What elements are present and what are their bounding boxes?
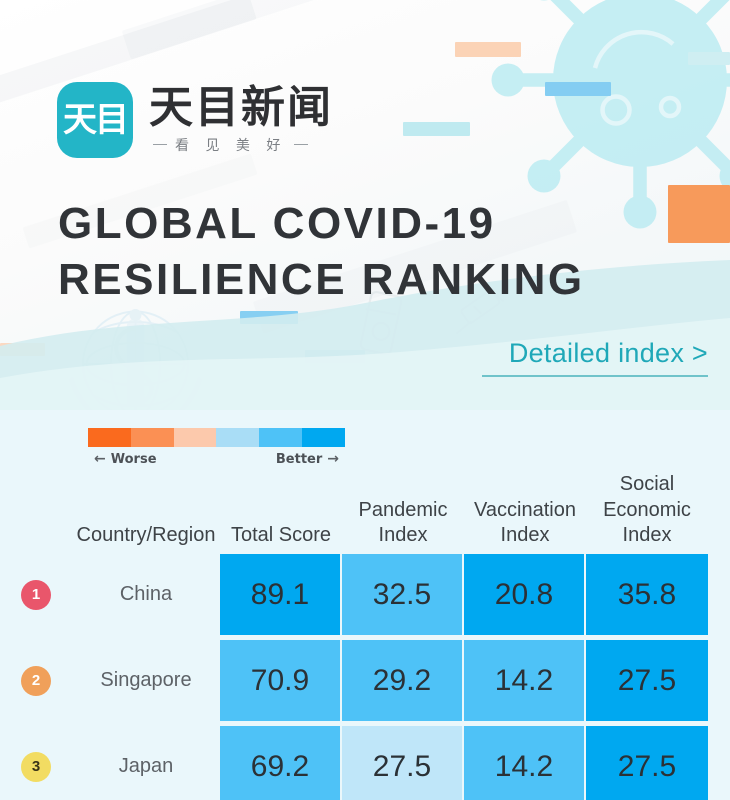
page-title: GLOBAL COVID-19 RESILIENCE RANKING bbox=[58, 196, 585, 309]
brand-tagline: 看 见 美 好 bbox=[149, 135, 333, 155]
logo-text-block: 天目新闻 看 见 美 好 bbox=[149, 85, 333, 154]
country-name: Singapore bbox=[72, 640, 220, 721]
hero-header: 天目 天目新闻 看 见 美 好 GLOBAL COVID-19 RESILIEN… bbox=[0, 0, 730, 410]
rank-badge: 2 bbox=[21, 666, 51, 696]
legend-labels: ← Worse Better → bbox=[88, 451, 345, 467]
legend-gradient-bar bbox=[88, 428, 345, 447]
vaccination-index-cell: 14.2 bbox=[464, 640, 586, 721]
rank-badge: 3 bbox=[21, 752, 51, 782]
total-score-cell: 69.2 bbox=[220, 726, 342, 800]
decor-chip bbox=[545, 82, 611, 96]
social-economic-index-cell: 27.5 bbox=[586, 640, 708, 721]
legend-swatch-4 bbox=[259, 428, 302, 447]
decor-chip bbox=[688, 52, 730, 65]
legend-better: Better → bbox=[276, 451, 339, 467]
table-row[interactable]: 2Singapore70.929.214.227.5 bbox=[0, 640, 730, 721]
vaccination-index-cell: 20.8 bbox=[464, 554, 586, 635]
color-legend: ← Worse Better → bbox=[88, 428, 345, 467]
legend-better-label: Better bbox=[276, 452, 322, 467]
column-header-social-economic-index: Social Economic Index bbox=[586, 472, 708, 551]
ranking-table-section: ← Worse Better → Rank Country/Region Tot… bbox=[0, 410, 730, 800]
social-economic-index-cell: 35.8 bbox=[586, 554, 708, 635]
brand-logo: 天目 天目新闻 看 见 美 好 bbox=[57, 82, 333, 158]
country-name: China bbox=[72, 554, 220, 635]
social-economic-index-cell: 27.5 bbox=[586, 726, 708, 800]
pandemic-index-cell: 29.2 bbox=[342, 640, 464, 721]
decor-chip bbox=[668, 185, 730, 243]
table-header-row: Rank Country/Region Total Score Pandemic… bbox=[0, 472, 730, 551]
total-score-cell: 89.1 bbox=[220, 554, 342, 635]
detailed-index-link[interactable]: Detailed index > bbox=[482, 338, 708, 377]
legend-swatch-1 bbox=[131, 428, 174, 447]
tagline-dash-left bbox=[153, 144, 167, 146]
infographic-page: 天目 天目新闻 看 见 美 好 GLOBAL COVID-19 RESILIEN… bbox=[0, 0, 730, 800]
column-header-total-score: Total Score bbox=[220, 523, 342, 551]
pandemic-index-cell: 27.5 bbox=[342, 726, 464, 800]
decor-chip bbox=[455, 42, 521, 57]
rank-badge: 1 bbox=[21, 580, 51, 610]
rank-cell: 3 bbox=[0, 726, 72, 800]
vaccination-index-cell: 14.2 bbox=[464, 726, 586, 800]
legend-worse-label: Worse bbox=[111, 452, 157, 467]
decor-chip bbox=[403, 122, 470, 136]
legend-swatch-3 bbox=[216, 428, 259, 447]
arrow-right-icon: → bbox=[327, 451, 339, 467]
detailed-index-underline bbox=[482, 375, 708, 377]
country-name: Japan bbox=[72, 726, 220, 800]
table-row[interactable]: 3Japan69.227.514.227.5 bbox=[0, 726, 730, 800]
column-header-pandemic-index: Pandemic Index bbox=[342, 498, 464, 551]
legend-swatch-5 bbox=[302, 428, 345, 447]
pandemic-index-cell: 32.5 bbox=[342, 554, 464, 635]
legend-worse: ← Worse bbox=[94, 451, 157, 467]
total-score-cell: 70.9 bbox=[220, 640, 342, 721]
brand-name: 天目新闻 bbox=[149, 85, 333, 131]
tagline-dash-right bbox=[294, 144, 308, 146]
column-header-vaccination-index: Vaccination Index bbox=[464, 498, 586, 551]
rank-cell: 1 bbox=[0, 554, 72, 635]
tagline-text: 看 见 美 好 bbox=[175, 135, 286, 155]
table-row[interactable]: 1China89.132.520.835.8 bbox=[0, 554, 730, 635]
rank-cell: 2 bbox=[0, 640, 72, 721]
table-body: 1China89.132.520.835.82Singapore70.929.2… bbox=[0, 554, 730, 800]
legend-swatch-2 bbox=[174, 428, 217, 447]
column-header-rank: Rank bbox=[0, 549, 72, 551]
detailed-index-label: Detailed index > bbox=[482, 338, 708, 369]
logo-mark: 天目 bbox=[57, 82, 133, 158]
arrow-left-icon: ← bbox=[94, 451, 106, 467]
column-header-country: Country/Region bbox=[72, 523, 220, 551]
legend-swatch-0 bbox=[88, 428, 131, 447]
